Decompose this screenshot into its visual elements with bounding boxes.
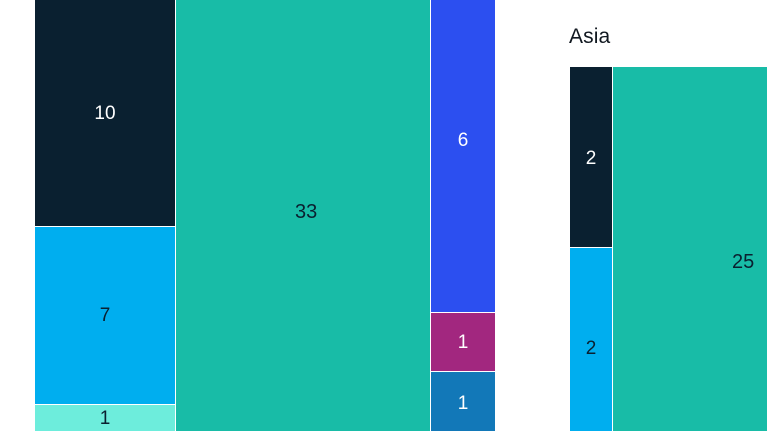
mosaic-column-2: 33 [176, 0, 430, 431]
cell-value-label: 1 [100, 409, 111, 428]
mosaic-cell[interactable]: 2 [570, 67, 612, 247]
mosaic-cell[interactable]: 2 [570, 248, 612, 431]
cell-value-label: 33 [295, 203, 317, 222]
mosaic-panel-main: 10 7 1 33 6 1 1 [35, 0, 495, 431]
asia-panel-title: Asia [569, 26, 610, 47]
cell-value-label: 25 [732, 253, 754, 272]
cell-value-label: 10 [94, 104, 115, 123]
mosaic-cell[interactable]: 7 [35, 227, 175, 404]
mosaic-cell[interactable]: 33 [176, 0, 430, 431]
mosaic-panel-asia: 2 2 25 [570, 67, 767, 431]
mosaic-column-3: 6 1 1 [431, 0, 495, 431]
cell-value-label: 1 [458, 333, 469, 352]
mosaic-column-2: 25 [613, 67, 767, 431]
mosaic-cell[interactable]: 10 [35, 0, 175, 226]
chart-canvas: 10 7 1 33 6 1 1 Asia [0, 0, 767, 431]
cell-value-label: 1 [458, 394, 469, 413]
mosaic-cell[interactable]: 1 [431, 372, 495, 431]
mosaic-column-1: 10 7 1 [35, 0, 175, 431]
cell-value-label: 2 [586, 339, 597, 358]
mosaic-cell[interactable]: 6 [431, 0, 495, 312]
mosaic-cell[interactable]: 1 [431, 313, 495, 371]
mosaic-cell[interactable]: 25 [613, 67, 767, 431]
cell-value-label: 2 [586, 149, 597, 168]
mosaic-column-1: 2 2 [570, 67, 612, 431]
cell-value-label: 7 [100, 306, 111, 325]
cell-value-label: 6 [458, 131, 469, 150]
mosaic-cell[interactable]: 1 [35, 405, 175, 431]
